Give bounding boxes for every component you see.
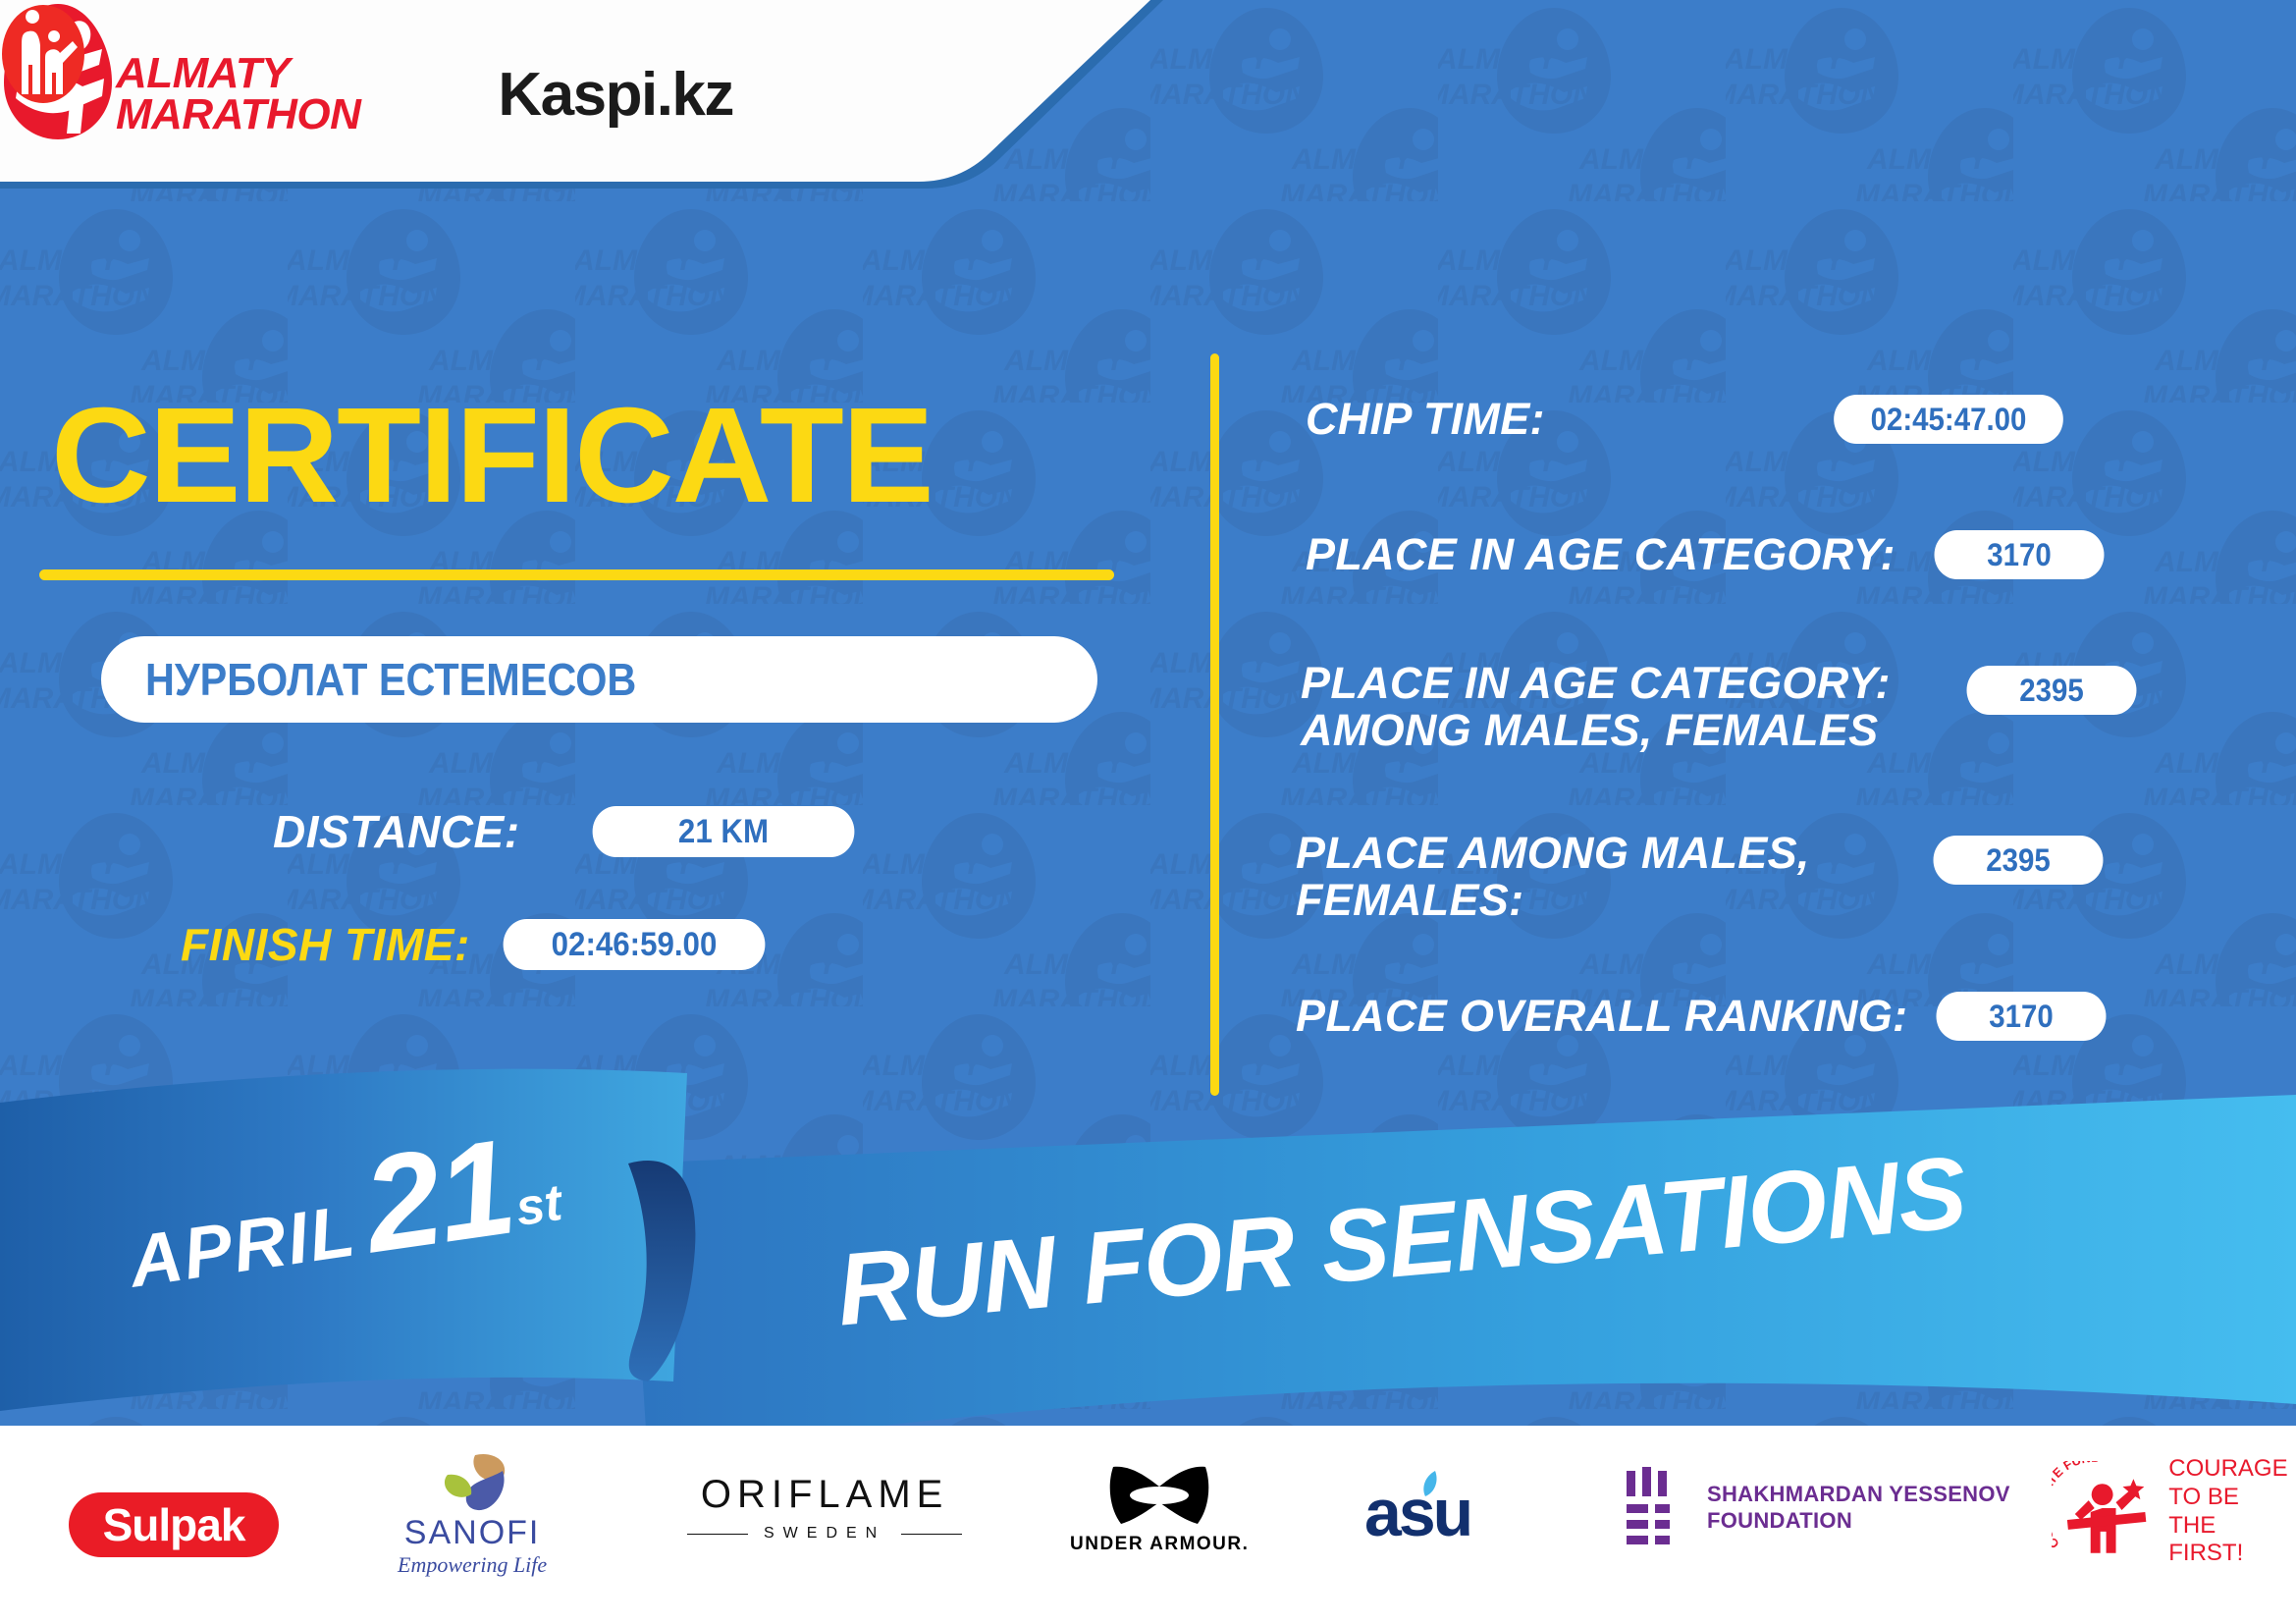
courage-line3: THE FIRST! bbox=[2168, 1512, 2296, 1569]
sponsor-strip: Sulpak SANOFI Empowering Life ORIFLAME S… bbox=[0, 1426, 2296, 1624]
finish-time-label: FINISH TIME: bbox=[181, 918, 470, 971]
sponsor-oriflame: ORIFLAME SWEDEN bbox=[687, 1473, 962, 1543]
yessenov-line1: SHAKHMARDAN YESSENOV bbox=[1707, 1481, 2010, 1508]
result-value: 2395 bbox=[1966, 666, 2136, 715]
sponsor-sulpak: Sulpak bbox=[69, 1492, 279, 1557]
oriflame-rule-right bbox=[901, 1534, 962, 1535]
result-row-chip-time: CHIP TIME: 02:45:47.00 bbox=[1306, 395, 2073, 444]
kaspi-mark-icon bbox=[0, 0, 86, 108]
distance-label: DISTANCE: bbox=[273, 805, 520, 858]
result-value: 02:45:47.00 bbox=[1834, 395, 2063, 444]
courage-line2: TO BE bbox=[2168, 1484, 2296, 1512]
yessenov-line2: FOUNDATION bbox=[1707, 1507, 2010, 1535]
sponsor-sanofi: SANOFI Empowering Life bbox=[398, 1453, 547, 1578]
participant-name-field: НУРБОЛАТ ЕСТЕМЕСОВ bbox=[101, 636, 1097, 723]
result-row-place-age-category-among: PLACE IN AGE CATEGORY: AMONG MALES, FEMA… bbox=[1301, 660, 2144, 753]
result-label: CHIP TIME: bbox=[1306, 396, 1545, 443]
result-label: PLACE AMONG MALES, FEMALES: bbox=[1296, 830, 1810, 923]
distance-value: 21 KM bbox=[592, 806, 854, 857]
sponsor-courage-to-be-the-first: CORPORATE FUND COURAGE TO BE THE FIRST! bbox=[2052, 1455, 2296, 1568]
under-armour-icon bbox=[1095, 1463, 1223, 1534]
under-armour-wordmark: UNDER ARMOUR. bbox=[1070, 1534, 1249, 1555]
almaty-logo-line2: MARATHON bbox=[116, 94, 360, 135]
sponsor-asu: asu bbox=[1364, 1475, 1470, 1551]
result-value: 3170 bbox=[1937, 992, 2107, 1041]
distance-row: DISTANCE: 21 KM bbox=[273, 805, 866, 858]
kaspi-logo: Kaspi.kz bbox=[480, 60, 733, 130]
result-row-place-age-category: PLACE IN AGE CATEGORY: 3170 bbox=[1306, 530, 2111, 579]
certificate-canvas: ALMATY MARATHON ALMATY MARATHON bbox=[0, 0, 2296, 1624]
courage-fund-icon: CORPORATE FUND bbox=[2052, 1461, 2155, 1563]
result-label: PLACE OVERALL RANKING: bbox=[1296, 993, 1907, 1040]
oriflame-rule-left bbox=[687, 1534, 748, 1535]
kaspi-wordmark: Kaspi.kz bbox=[498, 60, 733, 130]
finish-time-value: 02:46:59.00 bbox=[503, 919, 765, 970]
sponsor-shakhmardan-yessenov-foundation: SHAKHMARDAN YESSENOV FOUNDATION bbox=[1625, 1467, 2010, 1547]
sanofi-mark-icon bbox=[434, 1453, 510, 1514]
asu-leaf-icon bbox=[1415, 1469, 1441, 1500]
sulpak-logo: Sulpak bbox=[69, 1492, 279, 1557]
yessenov-mark-icon bbox=[1625, 1467, 1682, 1547]
page-title: CERTIFICATE bbox=[51, 388, 933, 523]
sponsor-under-armour: UNDER ARMOUR. bbox=[1070, 1463, 1249, 1555]
oriflame-sub: SWEDEN bbox=[764, 1525, 885, 1543]
event-day: 21 bbox=[355, 1111, 522, 1282]
almaty-marathon-logo: ALMATY MARATHON bbox=[116, 53, 354, 135]
result-value: 2395 bbox=[1933, 836, 2103, 885]
finish-time-row: FINISH TIME: 02:46:59.00 bbox=[181, 918, 776, 971]
event-day-suffix: st bbox=[512, 1174, 565, 1237]
courage-line1: COURAGE bbox=[2168, 1455, 2296, 1484]
result-row-place-among-males-females: PLACE AMONG MALES, FEMALES: 2395 bbox=[1296, 830, 2110, 923]
header-panel: ALMATY MARATHON bbox=[0, 0, 1207, 189]
event-month: APRIL bbox=[124, 1189, 360, 1302]
oriflame-wordmark: ORIFLAME bbox=[701, 1473, 948, 1517]
sanofi-wordmark: SANOFI bbox=[404, 1514, 541, 1552]
result-row-place-overall-ranking: PLACE OVERALL RANKING: 3170 bbox=[1296, 992, 2113, 1041]
ribbon-banner: APRIL21st RUN FOR SENSATIONS bbox=[0, 1065, 2296, 1488]
result-label: PLACE IN AGE CATEGORY: AMONG MALES, FEMA… bbox=[1301, 660, 1891, 753]
result-value: 3170 bbox=[1934, 530, 2104, 579]
title-underline bbox=[39, 569, 1114, 580]
result-label: PLACE IN AGE CATEGORY: bbox=[1306, 531, 1896, 578]
vertical-divider bbox=[1210, 353, 1219, 1096]
participant-name: НУРБОЛАТ ЕСТЕМЕСОВ bbox=[145, 653, 636, 706]
almaty-logo-line1: ALMATY bbox=[116, 53, 360, 94]
sanofi-tagline: Empowering Life bbox=[398, 1552, 547, 1578]
